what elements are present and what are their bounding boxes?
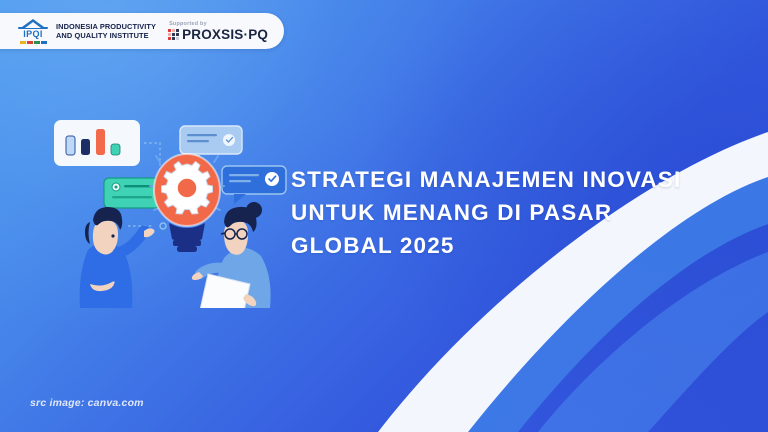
ipqi-acronym: IPQI xyxy=(23,30,43,39)
chat-bubble-dark xyxy=(222,166,286,204)
ipqi-accent-bars xyxy=(20,41,47,44)
proxsis-name: PROXSIS·PQ xyxy=(182,28,268,41)
ipqi-name-line2: AND QUALITY INSTITUTE xyxy=(56,31,156,40)
ipqi-temple-logo-icon: IPQI xyxy=(16,18,50,44)
page-title: STRATEGI MANAJEMEN INOVASI UNTUK MENANG … xyxy=(291,163,736,262)
connector-node xyxy=(160,223,166,229)
title-line-3: GLOBAL 2025 xyxy=(291,229,736,262)
brand-header-bar: IPQI INDONESIA PRODUCTIVITY AND QUALITY … xyxy=(0,13,284,49)
innovation-teamwork-illustration xyxy=(32,108,302,308)
partner-brand: Supported by PROXSIS·PQ xyxy=(168,21,268,41)
proxsis-lockup: PROXSIS·PQ xyxy=(168,28,268,41)
lightbulb-with-gear xyxy=(154,154,220,252)
image-credit: src image: canva.com xyxy=(30,397,144,409)
title-line-2: UNTUK MENANG DI PASAR xyxy=(291,196,736,229)
slide-canvas: IPQI INDONESIA PRODUCTIVITY AND QUALITY … xyxy=(0,0,768,432)
green-message-card xyxy=(104,178,160,208)
hair-bun xyxy=(246,202,262,218)
proxsis-grid-logo-icon xyxy=(168,29,179,40)
ipqi-brand: IPQI INDONESIA PRODUCTIVITY AND QUALITY … xyxy=(16,18,156,44)
ipqi-name: INDONESIA PRODUCTIVITY AND QUALITY INSTI… xyxy=(56,22,156,41)
title-line-1: STRATEGI MANAJEMEN INOVASI xyxy=(291,163,736,196)
ipqi-name-line1: INDONESIA PRODUCTIVITY xyxy=(56,22,156,31)
person-left-pointing xyxy=(80,207,155,308)
bar-chart-card xyxy=(54,120,140,166)
ipqi-roof-shape xyxy=(18,18,48,28)
